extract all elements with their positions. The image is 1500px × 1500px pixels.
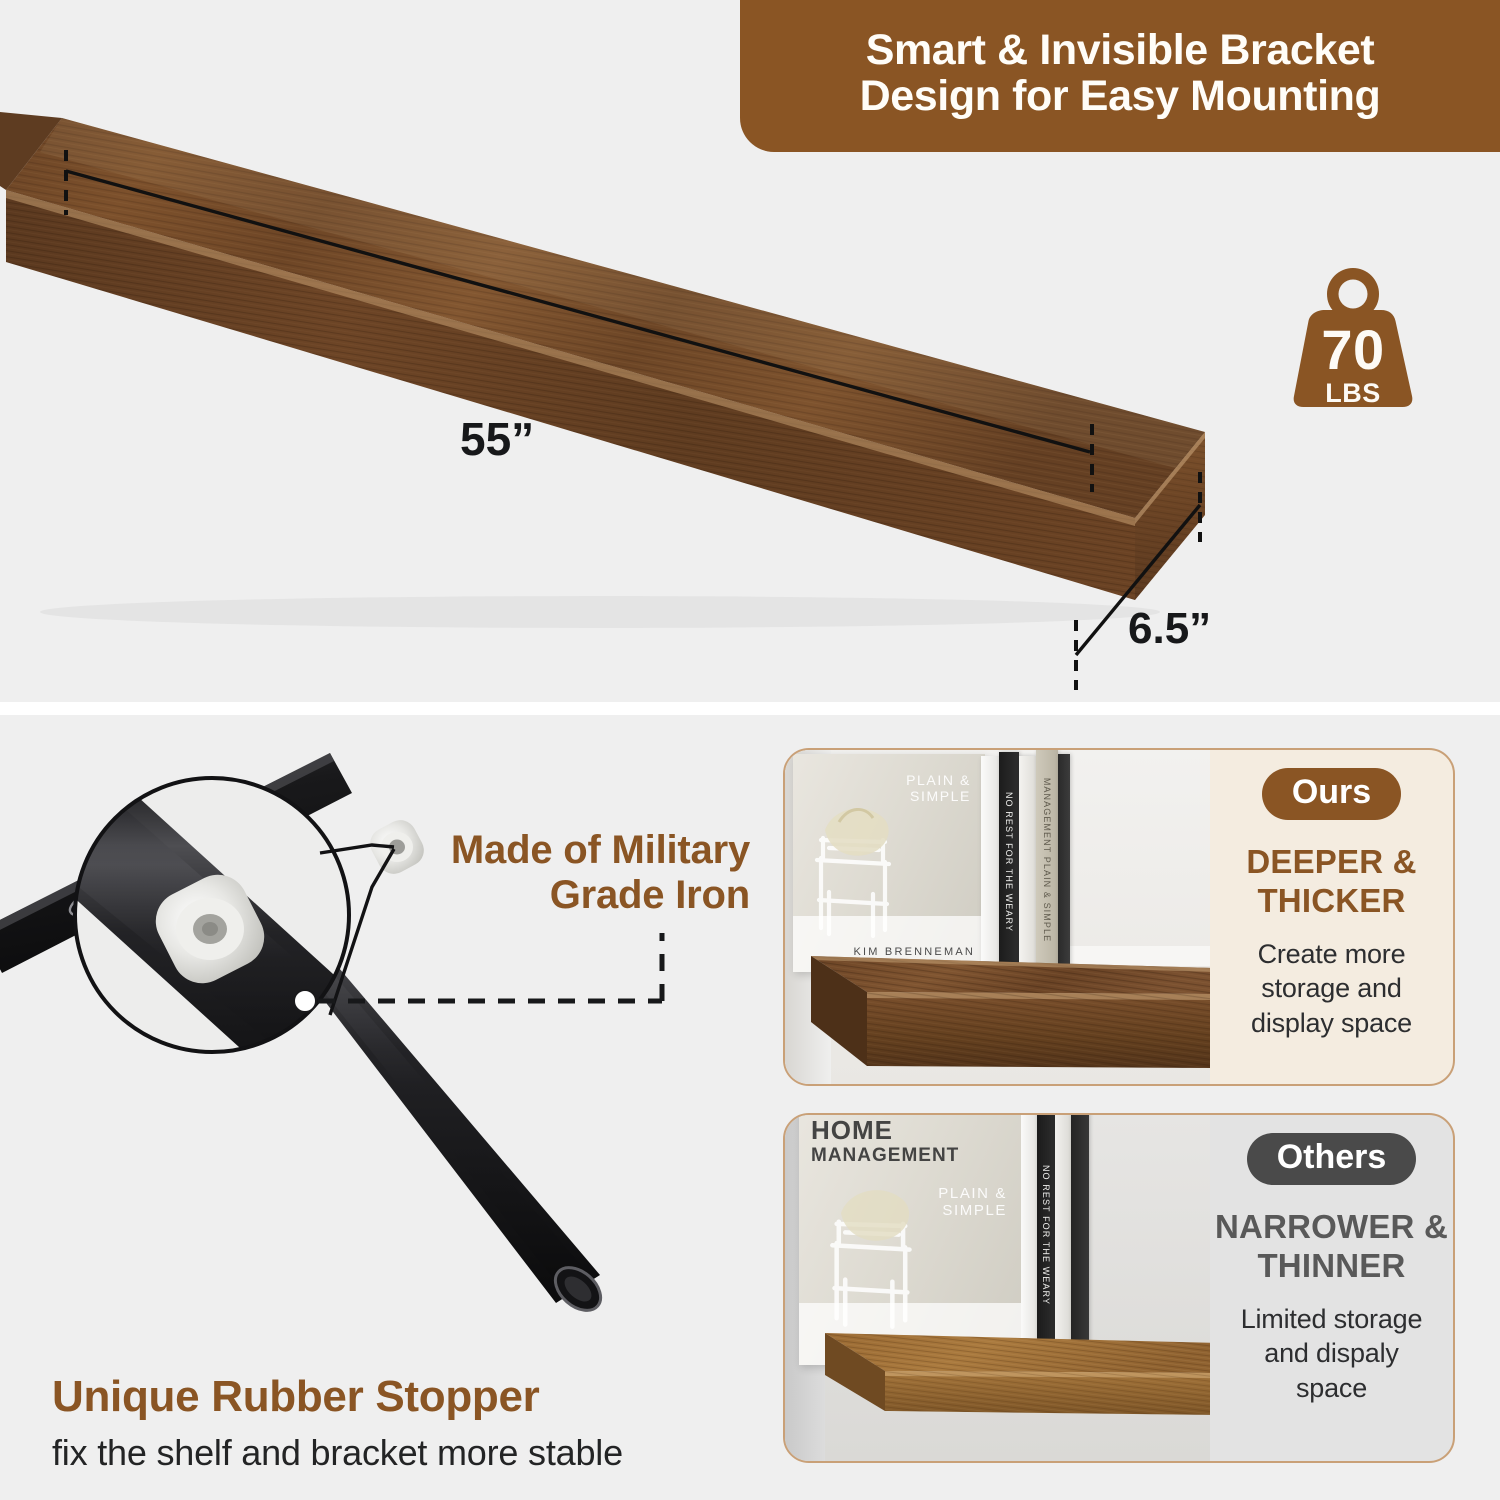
- header-banner: Smart & Invisible Bracket Design for Eas…: [740, 0, 1500, 152]
- ours-book-spine-dark2: [1058, 754, 1070, 970]
- section-divider: [0, 702, 1500, 715]
- comparison-panel-others: HOME MANAGEMENT PLAIN & SIMPLE: [783, 1113, 1455, 1463]
- others-heading: NARROWER & THINNER: [1210, 1207, 1453, 1286]
- ours-badge: Ours: [1262, 768, 1401, 820]
- header-title-line1: Smart & Invisible Bracket: [866, 27, 1375, 73]
- ours-product-photo: PLAIN & SIMPLE KIM BRENNEMAN NO REST FOR…: [785, 750, 1210, 1084]
- ours-book-cover: PLAIN & SIMPLE KIM BRENNEMAN: [793, 754, 985, 972]
- ours-book-spine-white: [1019, 756, 1036, 970]
- length-dimension-label: 55”: [460, 412, 534, 466]
- others-description: Limited storage and dispaly space: [1210, 1302, 1453, 1406]
- header-title-line2: Design for Easy Mounting: [860, 73, 1381, 119]
- ours-info: Ours DEEPER & THICKER Create more storag…: [1210, 750, 1453, 1084]
- ours-book-spine-dark: NO REST FOR THE WEARY: [999, 752, 1019, 972]
- ours-thick-shelf: [785, 950, 1210, 1080]
- others-badge: Others: [1247, 1133, 1417, 1185]
- military-grade-iron-title: Made of Military Grade Iron: [330, 828, 750, 918]
- iron-title-line2: Grade Iron: [550, 873, 750, 917]
- rubber-stopper-subtitle: fix the shelf and bracket more stable: [52, 1432, 772, 1474]
- ours-book-spine-tan: MANAGEMENT PLAIN & SIMPLE: [1036, 750, 1058, 970]
- comparison-panel-ours: PLAIN & SIMPLE KIM BRENNEMAN NO REST FOR…: [783, 748, 1455, 1086]
- depth-dimension-label: 6.5”: [1128, 604, 1211, 654]
- weight-unit: LBS: [1283, 380, 1423, 407]
- others-book-title-top: HOME MANAGEMENT: [811, 1115, 959, 1167]
- others-info: Others NARROWER & THINNER Limited storag…: [1210, 1115, 1453, 1461]
- others-thin-shelf: [789, 1329, 1210, 1449]
- ours-description: Create more storage and display space: [1210, 937, 1453, 1041]
- product-dimension-section: 55” 6.5” Smart & Invisible Bracket Desig…: [0, 0, 1500, 702]
- others-book-cover: HOME MANAGEMENT PLAIN & SIMPLE: [799, 1115, 1023, 1365]
- others-book-title: PLAIN & SIMPLE: [938, 1185, 1007, 1220]
- ours-heading: DEEPER & THICKER: [1210, 842, 1453, 921]
- rubber-stopper-title: Unique Rubber Stopper: [52, 1372, 752, 1422]
- ours-book-title: PLAIN & SIMPLE: [906, 772, 971, 804]
- infographic-stage: 55” 6.5” Smart & Invisible Bracket Desig…: [0, 0, 1500, 1500]
- iron-title-line1: Made of Military: [451, 828, 750, 872]
- weight-capacity-badge: 70 LBS: [1283, 262, 1423, 407]
- weight-value: 70: [1283, 322, 1423, 378]
- others-product-photo: HOME MANAGEMENT PLAIN & SIMPLE: [785, 1115, 1210, 1461]
